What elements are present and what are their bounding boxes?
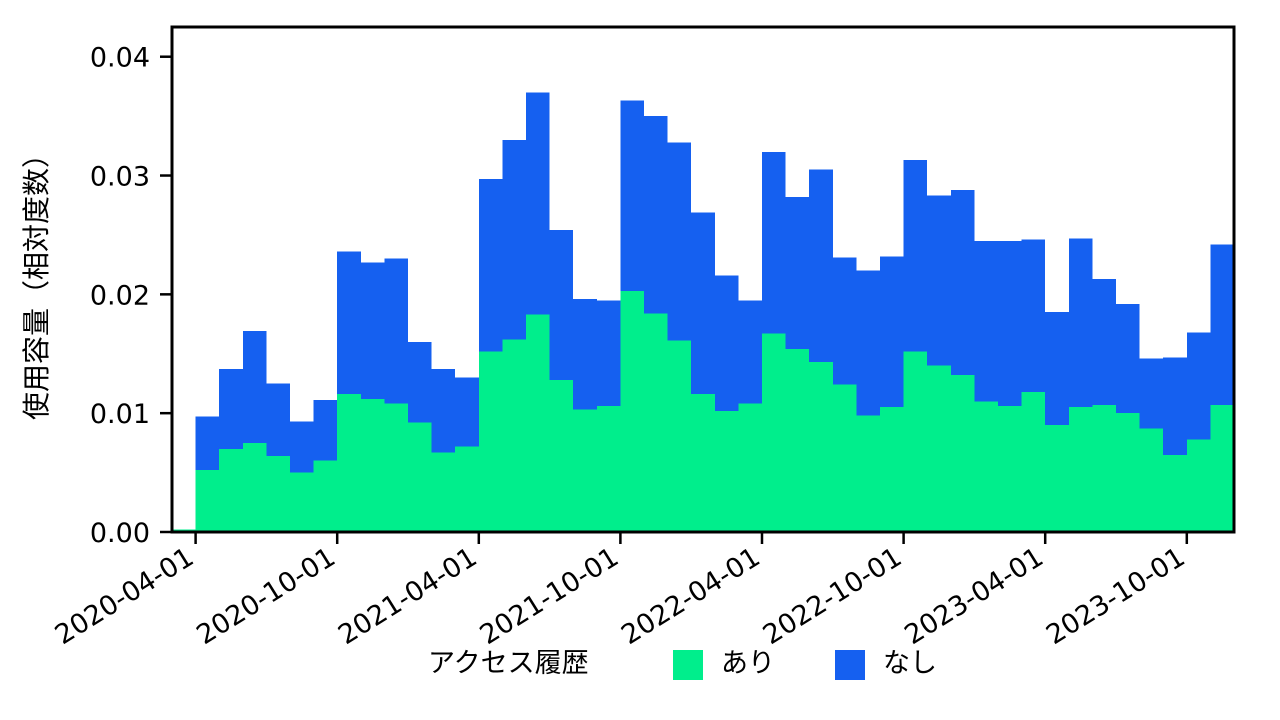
bar-segment-nashi [1210,244,1234,404]
bar-group [597,300,621,532]
bar-segment-ari [1069,407,1093,532]
bar-segment-ari [880,407,904,532]
bar-segment-ari [927,366,951,532]
bar-segment-nashi [219,369,243,449]
bar-group [502,140,526,532]
bar-segment-nashi [762,152,786,334]
bar-segment-nashi [479,179,503,351]
bar-group [904,160,928,532]
bar-segment-ari [974,401,998,532]
bar-segment-ari [1163,455,1187,532]
bar-segment-ari [266,456,290,532]
bar-segment-nashi [833,258,857,385]
bar-segment-ari [361,399,385,532]
bar-segment-nashi [597,300,621,406]
bar-segment-ari [762,334,786,532]
bar-segment-nashi [1187,332,1211,439]
bar-segment-ari [998,406,1022,532]
bar-segment-ari [856,416,880,532]
bar-segment-nashi [266,383,290,455]
relative-frequency-stacked-bar-chart: 0.000.010.020.030.04 2020-04-012020-10-0… [0,0,1280,720]
bar-segment-nashi [361,262,385,399]
bar-segment-nashi [573,299,597,410]
bar-group [243,331,267,532]
bar-segment-nashi [974,241,998,401]
bar-segment-nashi [243,331,267,443]
bar-segment-nashi [691,212,715,394]
bar-group [432,369,456,532]
bar-segment-ari [833,385,857,532]
bar-group [1116,304,1140,532]
bar-group [738,300,762,532]
bar-group [550,230,574,532]
bar-group [951,190,975,532]
bar-group [715,275,739,532]
bar-segment-ari [196,470,220,532]
bar-segment-ari [573,410,597,532]
bar-segment-ari [620,291,644,532]
bar-segment-nashi [951,190,975,375]
bar-group [196,417,220,532]
bar-segment-ari [597,406,621,532]
y-tick-label: 0.01 [90,399,150,430]
bar-group [1069,239,1093,532]
bar-segment-ari [408,423,432,532]
bar-group [809,170,833,532]
bar-segment-nashi [502,140,526,340]
legend-label-ari: あり [721,648,775,679]
bar-segment-nashi [196,417,220,470]
bar-segment-ari [384,404,408,532]
bar-segment-nashi [1022,240,1046,392]
bar-group [290,421,314,532]
bar-group [337,252,361,532]
bar-segment-nashi [384,259,408,404]
y-tick-label: 0.00 [90,518,150,549]
bar-segment-nashi [904,160,928,351]
bar-segment-nashi [738,300,762,403]
bar-group [668,142,692,532]
legend-swatch-nashi [835,650,865,680]
bar-segment-ari [337,394,361,532]
bar-segment-ari [1045,425,1069,532]
bar-segment-ari [691,394,715,532]
bar-segment-nashi [1116,304,1140,413]
bar-segment-ari [1140,429,1164,532]
bar-segment-ari [715,411,739,532]
bar-group [479,179,503,532]
bar-group [219,369,243,532]
bar-segment-ari [290,473,314,532]
bar-segment-ari [243,443,267,532]
bar-segment-ari [668,341,692,532]
bar-segment-nashi [432,369,456,452]
bar-group [361,262,385,532]
chart-legend: アクセス履歴 あり なし [428,648,937,680]
bar-group [927,196,951,532]
bar-group [384,259,408,532]
y-axis-title: 使用容量（相対度数） [20,140,53,420]
bar-segment-ari [1022,392,1046,532]
y-tick-label: 0.03 [90,162,150,193]
legend-title: アクセス履歴 [428,648,589,679]
bar-segment-ari [432,452,456,532]
bar-segment-ari [1210,405,1234,532]
bar-segment-nashi [644,116,668,313]
bar-segment-ari [1116,413,1140,532]
bar-group [998,241,1022,532]
bar-segment-nashi [290,421,314,472]
bar-segment-nashi [1163,357,1187,454]
bar-group [644,116,668,532]
bar-group [833,258,857,532]
bar-segment-ari [786,349,810,532]
bar-segment-ari [1187,439,1211,532]
y-tick-label: 0.04 [90,43,150,74]
bar-segment-nashi [786,197,810,349]
bar-segment-nashi [455,378,479,447]
bar-group [455,378,479,532]
bar-segment-ari [809,362,833,532]
bar-segment-ari [550,380,574,532]
bar-group [1022,240,1046,532]
bar-group [974,241,998,532]
bar-segment-ari [479,351,503,532]
bar-group [880,256,904,532]
bar-group [1140,359,1164,532]
bar-segment-ari [502,340,526,532]
bar-segment-nashi [314,400,338,461]
bar-segment-ari [738,404,762,532]
bar-group [573,299,597,532]
bar-group [620,101,644,532]
bar-group [526,92,550,532]
bar-group [314,400,338,532]
bar-segment-nashi [550,230,574,380]
bar-segment-nashi [998,241,1022,406]
bar-segment-nashi [620,101,644,291]
bar-segment-nashi [809,170,833,362]
bar-segment-ari [526,315,550,532]
bar-group [1045,312,1069,532]
legend-swatch-ari [673,650,703,680]
bar-segment-nashi [927,196,951,366]
bar-segment-ari [644,313,668,532]
bar-segment-nashi [526,92,550,314]
bar-group [1092,279,1116,532]
bar-group [266,383,290,532]
bar-group [408,342,432,532]
bar-segment-ari [1092,405,1116,532]
bar-group [1210,244,1234,532]
bar-segment-nashi [337,252,361,395]
bar-group [691,212,715,532]
bar-group [856,271,880,532]
y-tick-label: 0.02 [90,280,150,311]
bar-segment-ari [219,449,243,532]
bar-segment-nashi [715,275,739,410]
bar-group [786,197,810,532]
legend-label-nashi: なし [883,648,937,679]
bar-segment-nashi [408,342,432,423]
bar-segment-nashi [1140,359,1164,429]
bar-group [1163,357,1187,532]
bar-segment-nashi [1069,239,1093,408]
bar-group [1187,332,1211,532]
bar-segment-ari [455,446,479,532]
bar-segment-nashi [880,256,904,407]
bar-segment-ari [951,375,975,532]
bar-segment-ari [314,461,338,532]
bar-segment-ari [904,351,928,532]
bar-segment-nashi [668,142,692,340]
bar-segment-nashi [1092,279,1116,405]
chart-container: 0.000.010.020.030.04 2020-04-012020-10-0… [0,0,1280,720]
bar-group [762,152,786,532]
bar-segment-nashi [1045,312,1069,425]
bar-segment-nashi [856,271,880,416]
